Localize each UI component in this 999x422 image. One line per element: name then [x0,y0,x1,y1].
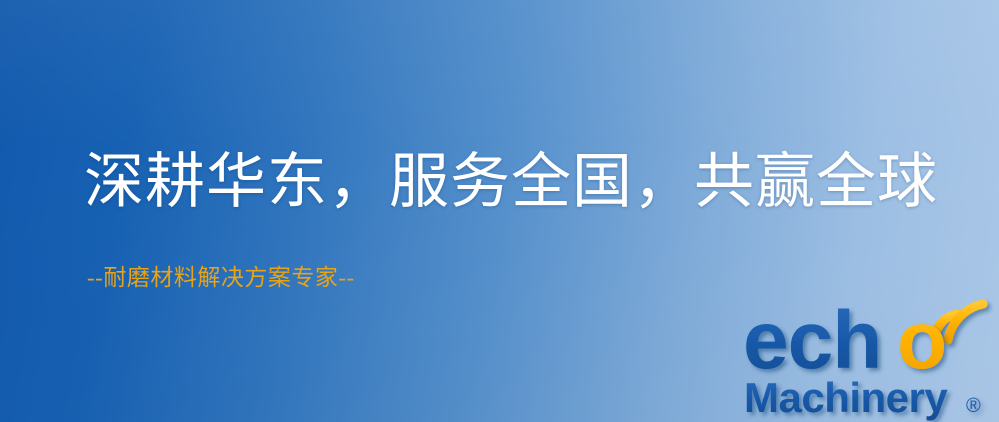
logo-wordmark-ech: ech [743,295,881,386]
svg-text:o: o [897,295,947,386]
banner-subtitle: --耐磨材料解决方案专家-- [87,266,355,289]
svg-text:ech: ech [743,295,881,386]
hero-banner: 深耕华东，服务全国，共赢全球 --耐磨材料解决方案专家-- [0,0,999,422]
banner-headline: 深耕华东，服务全国，共赢全球 [84,152,938,212]
echo-machinery-logo[interactable]: ech o Machinery ® [742,292,999,422]
registered-trademark-icon: ® [966,395,981,417]
logo-wordmark-o: o [897,295,947,386]
logo-tagline: Machinery ® [744,374,981,421]
svg-text:Machinery: Machinery [744,374,948,421]
